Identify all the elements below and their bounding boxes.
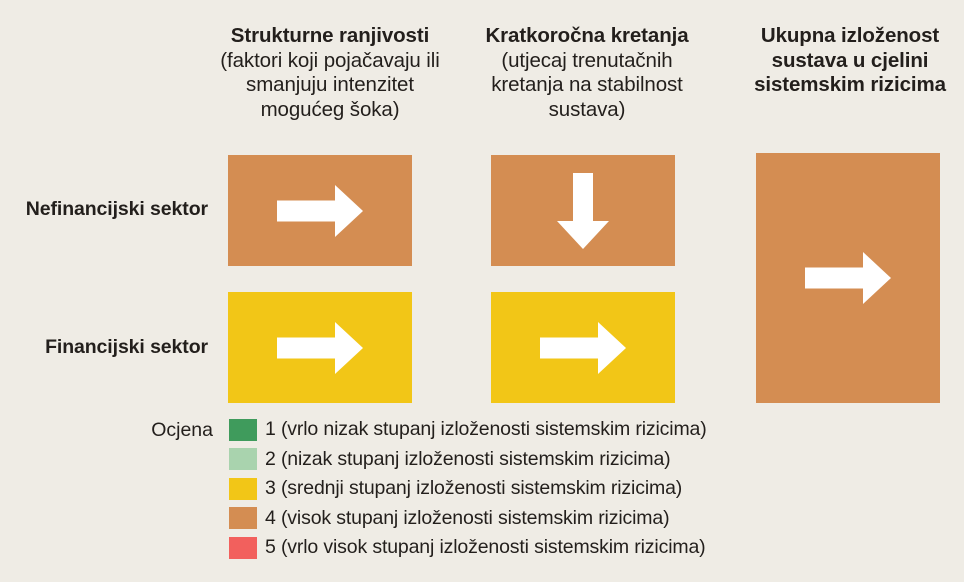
matrix-cell-nefinancijski-strukturne[interactable] xyxy=(228,155,412,266)
legend-item-3: 3 (srednji stupanj izloženosti sistemski… xyxy=(229,474,707,504)
legend-swatch-1 xyxy=(229,419,257,441)
risk-matrix-figure: Strukturne ranjivosti (faktori koji poja… xyxy=(0,0,964,582)
legend-label-2: 2 (nizak stupanj izloženosti sistemskim … xyxy=(265,448,671,471)
column-header-subtitle-line: mogućeg šoka) xyxy=(206,98,454,123)
legend-swatch-4 xyxy=(229,507,257,529)
arrow-right-icon xyxy=(277,185,363,237)
column-header-subtitle-line: kretanja na stabilnost xyxy=(471,73,703,98)
legend-label-3: 3 (srednji stupanj izloženosti sistemski… xyxy=(265,477,682,500)
column-header-strukturne-ranjivosti: Strukturne ranjivosti (faktori koji poja… xyxy=(206,24,454,122)
column-header-kratkorocna-kretanja: Kratkoročna kretanja (utjecaj trenutačni… xyxy=(471,24,703,122)
column-header-title: Ukupna izloženost xyxy=(742,24,958,49)
legend-label-1: 1 (vrlo nizak stupanj izloženosti sistem… xyxy=(265,418,707,441)
legend-swatch-2 xyxy=(229,448,257,470)
column-header-title: Kratkoročna kretanja xyxy=(471,24,703,49)
column-header-title: Strukturne ranjivosti xyxy=(206,24,454,49)
matrix-cell-financijski-kratkorocna[interactable] xyxy=(491,292,675,403)
legend-label-4: 4 (visok stupanj izloženosti sistemskim … xyxy=(265,507,669,530)
matrix-cell-ukupna-izlozenost[interactable] xyxy=(756,153,940,403)
legend-label-5: 5 (vrlo visok stupanj izloženosti sistem… xyxy=(265,536,706,559)
row-label-nefinancijski-sektor: Nefinancijski sektor xyxy=(8,198,208,221)
legend-items: 1 (vrlo nizak stupanj izloženosti sistem… xyxy=(229,415,707,563)
column-header-ukupna-izlozenost: Ukupna izloženost sustava u cjelini sist… xyxy=(742,24,958,98)
matrix-cell-nefinancijski-kratkorocna[interactable] xyxy=(491,155,675,266)
column-header-subtitle-line: (faktori koji pojačavaju ili xyxy=(206,49,454,74)
matrix-cell-financijski-strukturne[interactable] xyxy=(228,292,412,403)
arrow-right-icon xyxy=(805,252,891,304)
column-header-subtitle-line: smanjuju intenzitet xyxy=(206,73,454,98)
column-header-subtitle-line: sustava) xyxy=(471,98,703,123)
arrow-down-icon xyxy=(557,173,609,249)
arrow-right-icon xyxy=(540,322,626,374)
column-header-subtitle-line: (utjecaj trenutačnih xyxy=(471,49,703,74)
legend-caption: Ocjena xyxy=(0,419,213,442)
legend-item-5: 5 (vrlo visok stupanj izloženosti sistem… xyxy=(229,533,707,563)
legend-swatch-3 xyxy=(229,478,257,500)
legend-item-4: 4 (visok stupanj izloženosti sistemskim … xyxy=(229,504,707,534)
row-label-financijski-sektor: Financijski sektor xyxy=(8,336,208,359)
legend-item-1: 1 (vrlo nizak stupanj izloženosti sistem… xyxy=(229,415,707,445)
column-header-title: sistemskim rizicima xyxy=(742,73,958,98)
legend-item-2: 2 (nizak stupanj izloženosti sistemskim … xyxy=(229,445,707,475)
legend-swatch-5 xyxy=(229,537,257,559)
column-header-title: sustava u cjelini xyxy=(742,49,958,74)
arrow-right-icon xyxy=(277,322,363,374)
